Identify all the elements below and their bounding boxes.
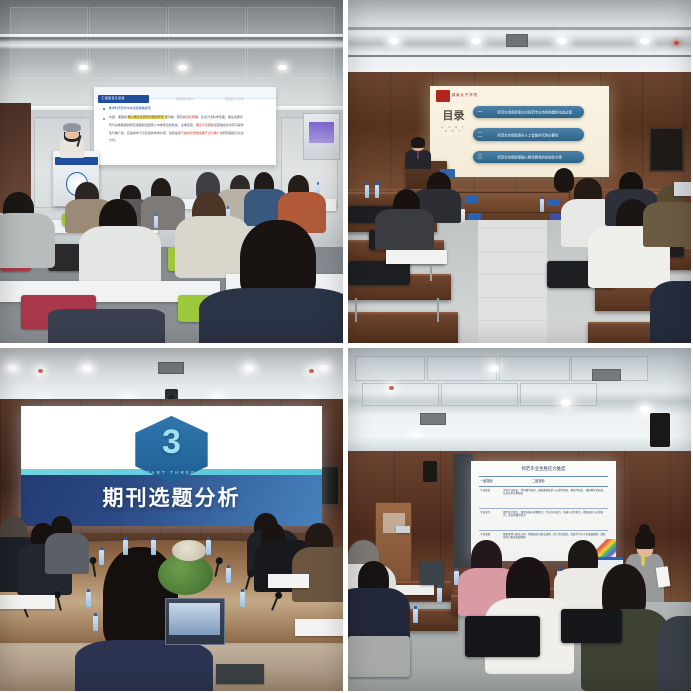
downlight	[489, 365, 499, 372]
water-bottle	[86, 592, 91, 607]
section-badge-number: 3	[135, 425, 207, 459]
presenter-figure	[58, 123, 85, 157]
audience-body-foreground	[79, 226, 161, 288]
projection-screen: 汇报题目及思路 研究背景与意义 研究设计与方法 教学科普写作中的选题策略探索 内…	[94, 87, 276, 164]
audience-head	[554, 168, 575, 192]
phone-icon	[674, 182, 691, 196]
foreground-person-body	[650, 281, 691, 343]
table-cell-r3c1: 专业情意	[480, 533, 497, 536]
slide-body-blue-1: 创新性	[169, 123, 178, 127]
table-cell-r2c2: 教学设计能力、课堂实施与管理能力、学业评价能力、沟通与合作能力、教育研究与反思能…	[503, 511, 607, 518]
slide-body-2: 要清晰，研究的	[165, 115, 186, 119]
water-bottle	[375, 185, 379, 198]
ceiling	[348, 348, 691, 451]
table-cell-r1c1: 专业知识	[480, 489, 497, 492]
contents-label-cn: 目录	[441, 111, 466, 123]
foreground-person-body	[199, 288, 343, 343]
audience-body	[0, 213, 55, 268]
smoke-detector-icon	[309, 369, 314, 373]
downlight	[471, 38, 481, 44]
open-book	[386, 250, 448, 264]
wall-speaker	[650, 413, 671, 447]
photo-collage: 汇报题目及思路 研究背景与意义 研究设计与方法 教学科普写作中的选题策略探索 内…	[0, 0, 693, 693]
contents-item-1-text: 师范生自我叙事论对师范专业自我构建的动态过程	[497, 109, 572, 114]
water-bottle	[151, 540, 156, 555]
contents-item-1: 一 师范生自我叙事论对师范专业自我构建的动态过程	[473, 106, 584, 118]
slide-body-5: ，注重实用，	[178, 123, 196, 127]
audience-body	[643, 202, 691, 247]
contents-item-1-number: 一	[478, 108, 484, 115]
chair	[348, 261, 410, 285]
water-bottle	[123, 540, 128, 555]
slide-body-4: 景与总体框架的研究思路和选题意义中体现出	[109, 123, 169, 127]
ceiling-vent	[592, 369, 621, 381]
water-bottle	[540, 199, 544, 212]
contents-label-en: C O N T E N T	[441, 125, 466, 133]
slide-body-7: 性与推广性，应提供学习与应用的参考价值，最终呈现	[109, 131, 181, 135]
attendee-body	[45, 533, 90, 574]
table-col-header-2: 二级指标	[532, 478, 545, 483]
photo-panel-bottom-left[interactable]: 3 PART THREE 期刊选题分析	[0, 348, 343, 691]
slide-body-red-2: 理论与实践	[196, 123, 211, 127]
water-bottle	[154, 216, 158, 228]
contents-item-2-number: 二	[478, 131, 484, 138]
water-bottle	[206, 540, 211, 555]
downlight	[389, 38, 399, 44]
institution-logo-text: 湖南女子学院	[452, 92, 478, 97]
slide-body-6: 的深度融合并具有可操作	[211, 123, 244, 127]
slide-header-tab3: 研究设计与方法	[225, 97, 243, 101]
chair	[348, 636, 410, 677]
water-bottle	[365, 185, 369, 198]
chair-cover	[657, 616, 691, 691]
projection-screen: 3 PART THREE 期刊选题分析	[21, 406, 323, 526]
audience-body	[175, 216, 250, 278]
chair	[561, 609, 623, 643]
smoke-detector-icon	[389, 386, 394, 390]
table-cell-r1c2: 学科专业知识、学科教学知识、通识教育知识与心理学知识、教育学知识、课程教学论知识…	[503, 489, 607, 496]
institution-logo-icon	[436, 90, 450, 102]
slide-bullet-heading: 教学科普写作中的选题策略探索	[109, 106, 151, 110]
table-cell-r2c1: 专业能力	[480, 511, 497, 514]
contents-label: 目录 C O N T E N T	[441, 111, 466, 133]
wall-sign	[396, 526, 410, 533]
tumbler	[461, 209, 465, 222]
water-bottle	[437, 588, 442, 602]
document	[0, 595, 55, 609]
desk-nameplate	[467, 213, 481, 220]
monitor	[420, 561, 444, 585]
audience-body	[375, 209, 433, 250]
contents-item-3-text: 师范生自我叙事融入教师教育的系统化方案	[497, 155, 561, 160]
downlight	[640, 38, 650, 44]
photo-panel-bottom-right[interactable]: 师范毕业生胜任力维度 一级指标 二级指标 专业知识 学科专业知识、学科教学知识、…	[348, 348, 691, 691]
slide-title: 师范毕业生胜任力维度	[471, 466, 615, 472]
slide-body-highlight: 核心概念及研究问题的界定	[127, 115, 165, 119]
tablet	[216, 664, 264, 685]
contents-item-2-text: 师范生自我叙事在人工智能时代的必要性	[497, 132, 558, 137]
slide-body-3: ，论证方法科学合理，能在选题背	[198, 115, 243, 119]
wall-frame	[649, 127, 684, 172]
wall-speaker	[423, 461, 437, 482]
slide-body-red-3: 可指向高质量成果产出与推广	[181, 131, 220, 135]
wall-display	[303, 113, 339, 160]
water-bottle	[226, 568, 231, 583]
downlight	[640, 406, 650, 413]
contents-item-2: 二 师范生自我叙事在人工智能时代的必要性	[473, 128, 584, 140]
contents-item-3-number: 三	[478, 154, 484, 161]
downlight	[557, 38, 567, 44]
slide-body-8: 的研究路径与表达	[220, 131, 244, 135]
flower-arrangement	[172, 540, 206, 561]
ceiling-vent	[158, 362, 184, 374]
ceiling-vent	[420, 413, 446, 425]
section-title: 期刊选题分析	[21, 482, 323, 512]
downlight	[244, 365, 254, 371]
foreground-person-body	[75, 640, 212, 691]
contents-item-3: 三 师范生自我叙事融入教师教育的系统化方案	[473, 151, 584, 163]
projection-screen: 湖南女子学院 目录 C O N T E N T 一 师范生自我叙事论对师范专业自…	[430, 86, 608, 177]
smoke-detector-icon	[38, 369, 43, 373]
slide-body-red-1: 目标明确	[186, 115, 198, 119]
aisle	[478, 220, 547, 343]
table-col-header-1: 一级指标	[480, 478, 493, 483]
ceiling-beam	[0, 34, 343, 37]
water-bottle	[93, 616, 98, 631]
desk-nameplate	[464, 196, 478, 203]
document	[295, 619, 343, 636]
water-bottle	[413, 609, 418, 623]
desk-nameplate	[546, 199, 560, 206]
screen-side-panel	[453, 454, 474, 567]
ceiling-vent	[506, 34, 529, 46]
presenter-figure	[405, 137, 432, 168]
slide-header-tab2: 研究背景与意义	[176, 97, 194, 101]
water-bottle	[99, 550, 104, 565]
photo-panel-top-left[interactable]: 汇报题目及思路 研究背景与意义 研究设计与方法 教学科普写作中的选题策略探索 内…	[0, 0, 343, 343]
slide-body-9: 方式。	[109, 138, 118, 142]
bag	[48, 309, 165, 343]
laptop	[165, 598, 225, 645]
document	[268, 574, 309, 588]
water-bottle	[240, 592, 245, 607]
chair	[465, 616, 540, 657]
photo-panel-top-right[interactable]: 湖南女子学院 目录 C O N T E N T 一 师范生自我叙事论对师范专业自…	[348, 0, 691, 343]
slide-header-tab: 汇报题目及思路	[102, 96, 125, 100]
slide-body-1: 内涵：课题的	[109, 115, 127, 119]
